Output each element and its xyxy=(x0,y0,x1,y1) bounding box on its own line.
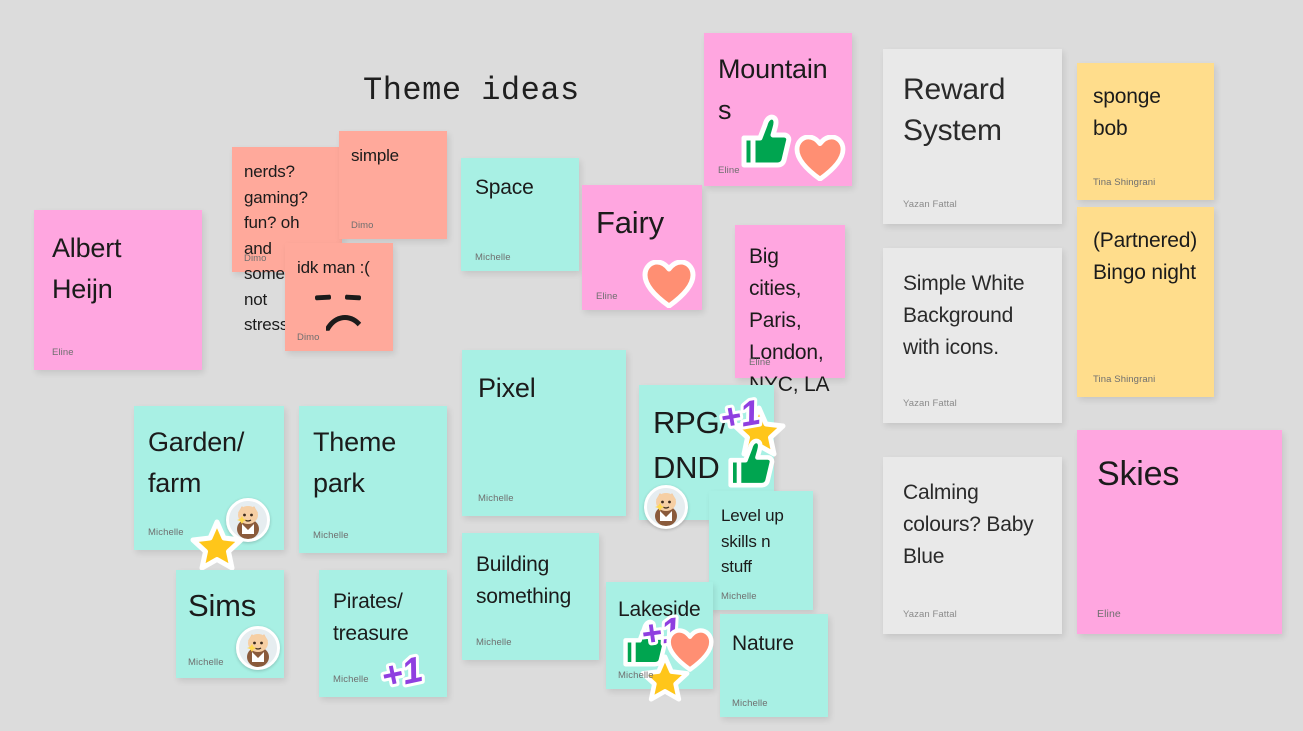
sticky-note-level-up[interactable]: Level up skills n stuff Michelle xyxy=(709,491,813,610)
svg-text:+1: +1 xyxy=(377,648,426,697)
note-text: Skies xyxy=(1097,452,1262,496)
note-text: Theme park xyxy=(313,422,433,503)
note-author: Eline xyxy=(596,291,618,302)
note-text: Calming colours? Baby Blue xyxy=(903,477,1042,573)
note-text: (Partnered) Bingo night xyxy=(1093,225,1198,289)
note-text: Simple White Background with icons. xyxy=(903,268,1042,364)
note-author: Michelle xyxy=(333,674,369,685)
note-text: Garden/ farm xyxy=(148,422,270,503)
sticky-note-sims[interactable]: Sims Michelle xyxy=(176,570,284,678)
note-author: Michelle xyxy=(478,493,514,504)
note-text: Pirates/ treasure xyxy=(333,586,433,650)
sticky-note-partnered-bingo[interactable]: (Partnered) Bingo night Tina Shingrani xyxy=(1077,207,1214,397)
note-author: Michelle xyxy=(618,670,654,681)
sticky-note-albert-heijn[interactable]: Albert Heijn Eline xyxy=(34,210,202,370)
note-author: Yazan Fattal xyxy=(903,609,957,620)
svg-text:+1: +1 xyxy=(717,393,763,438)
note-author: Michelle xyxy=(148,527,184,538)
sticky-note-theme-park[interactable]: Theme park Michelle xyxy=(299,406,447,553)
sticky-note-sponge-bob[interactable]: sponge bob Tina Shingrani xyxy=(1077,63,1214,200)
star-sticker[interactable] xyxy=(190,519,244,571)
sticky-note-big-cities[interactable]: Big cities, Paris, London, NYC, LA Eline xyxy=(735,225,845,378)
sticky-note-skies[interactable]: Skies Eline xyxy=(1077,430,1282,634)
sad-face-right-eye xyxy=(345,295,361,301)
note-text: Big cities, Paris, London, NYC, LA xyxy=(749,241,831,401)
note-text: Reward System xyxy=(903,69,1042,152)
note-author: Yazan Fattal xyxy=(903,199,957,210)
thumbs-up-sticker[interactable] xyxy=(727,437,775,489)
sticky-note-space[interactable]: Space Michelle xyxy=(461,158,579,271)
note-text: Albert Heijn xyxy=(52,228,184,309)
note-text: Fairy xyxy=(596,201,688,246)
note-author: Eline xyxy=(749,357,771,368)
thumbs-up-sticker[interactable] xyxy=(740,113,792,169)
note-author: Michelle xyxy=(476,637,512,648)
note-text: idk man :( xyxy=(297,255,381,281)
note-text: Pixel xyxy=(478,368,610,409)
note-author: Michelle xyxy=(732,698,768,709)
sticky-note-garden-farm[interactable]: Garden/ farm Michelle xyxy=(134,406,284,550)
note-author: Dimo xyxy=(351,220,374,231)
note-author: Tina Shingrani xyxy=(1093,177,1155,188)
note-text: Sims xyxy=(188,584,272,629)
avatar-sticker[interactable] xyxy=(644,485,688,529)
note-text: sponge bob xyxy=(1093,81,1198,145)
sticky-note-mountains[interactable]: Mountains Eline xyxy=(704,33,852,186)
note-author: Michelle xyxy=(721,591,757,602)
sticky-note-simple[interactable]: simple Dimo xyxy=(339,131,447,239)
note-author: Eline xyxy=(1097,608,1121,620)
sticky-note-building-something[interactable]: Building something Michelle xyxy=(462,533,599,660)
plus-one-sticker[interactable]: +1 xyxy=(373,642,439,699)
note-author: Michelle xyxy=(475,252,511,263)
sticky-note-idk-man[interactable]: idk man :( Dimo xyxy=(285,243,393,351)
heart-sticker[interactable] xyxy=(794,135,846,181)
sad-face-mouth xyxy=(321,315,369,345)
heart-sticker[interactable] xyxy=(642,260,696,308)
sticky-note-nature[interactable]: Nature Michelle xyxy=(720,614,828,717)
whiteboard-canvas[interactable]: Theme ideas Albert Heijn Eline nerds? ga… xyxy=(0,0,1303,731)
sticky-note-lakeside[interactable]: Lakeside +1 Michelle xyxy=(606,582,713,689)
sticky-note-pixel[interactable]: Pixel Michelle xyxy=(462,350,626,516)
note-text: Level up skills n stuff xyxy=(721,503,801,580)
avatar-sticker[interactable] xyxy=(236,626,280,670)
note-text: simple xyxy=(351,143,435,169)
page-title: Theme ideas xyxy=(363,72,580,109)
note-author: Yazan Fattal xyxy=(903,398,957,409)
note-text: Building something xyxy=(476,549,585,613)
note-author: Eline xyxy=(718,165,740,176)
note-author: Tina Shingrani xyxy=(1093,374,1155,385)
sticky-note-reward-system[interactable]: Reward System Yazan Fattal xyxy=(883,49,1062,224)
sticky-note-simple-white-background[interactable]: Simple White Background with icons. Yaza… xyxy=(883,248,1062,423)
note-author: Michelle xyxy=(313,530,349,541)
note-author: Dimo xyxy=(244,253,267,264)
note-text: Space xyxy=(475,172,565,204)
plus-one-sticker[interactable]: +1 xyxy=(713,386,776,441)
note-author: Michelle xyxy=(188,657,224,668)
note-author: Eline xyxy=(52,347,74,358)
note-text: Nature xyxy=(732,628,816,660)
sticky-note-calming-colours[interactable]: Calming colours? Baby Blue Yazan Fattal xyxy=(883,457,1062,634)
sticky-note-pirates-treasure[interactable]: Pirates/ treasure +1 Michelle xyxy=(319,570,447,697)
sticky-note-fairy[interactable]: Fairy Eline xyxy=(582,185,702,310)
note-author: Dimo xyxy=(297,332,320,343)
sad-face-left-eye xyxy=(315,295,331,301)
